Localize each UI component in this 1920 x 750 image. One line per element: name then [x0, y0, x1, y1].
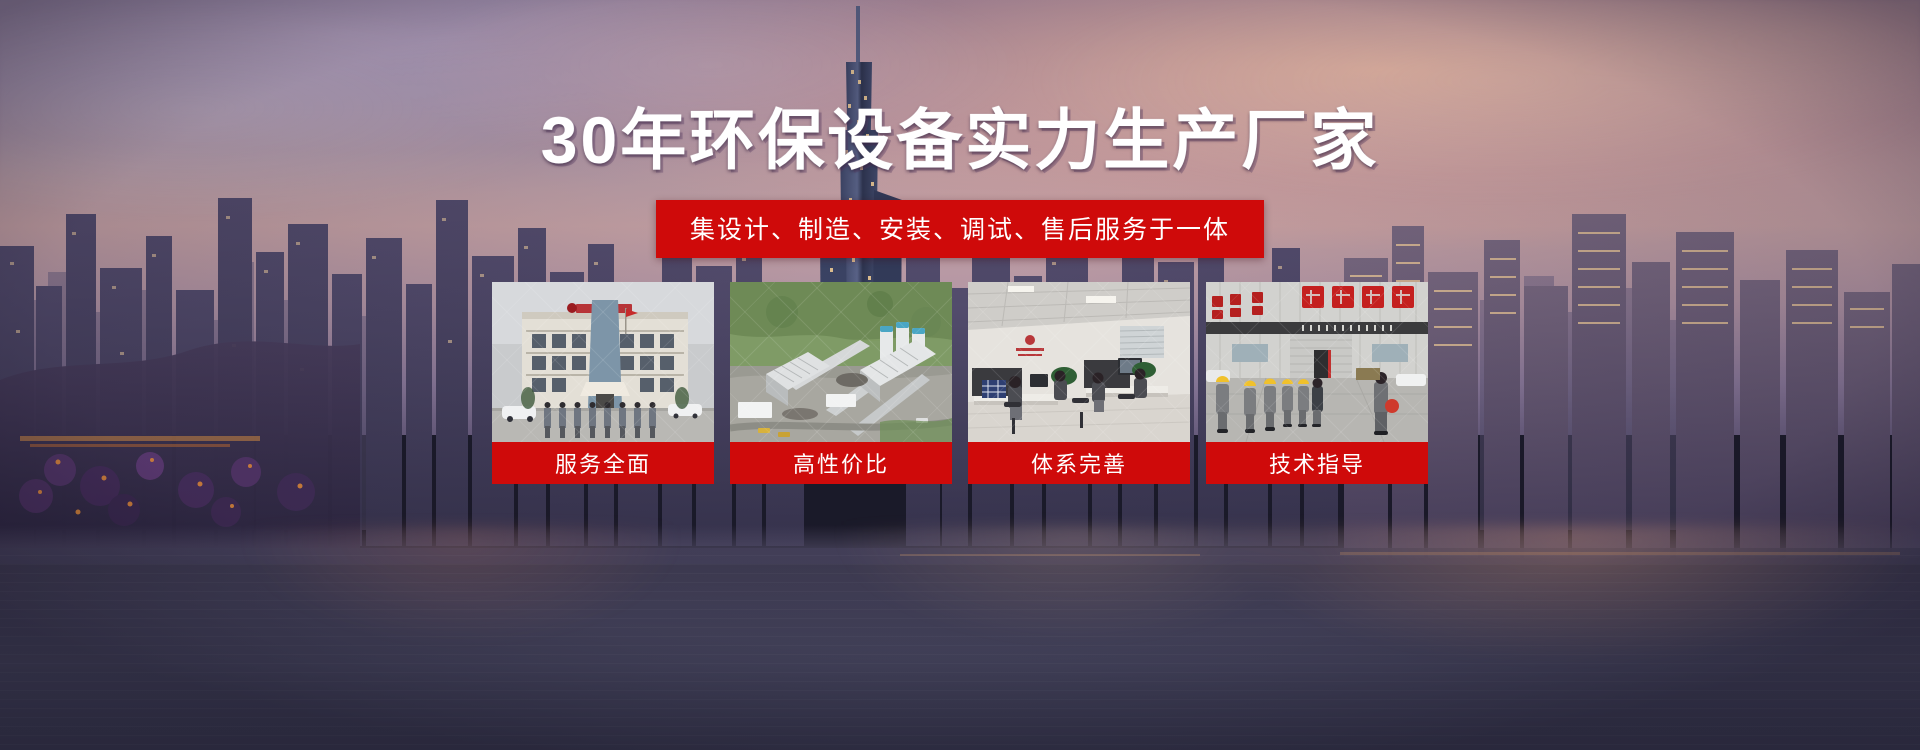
banner-content: 30年环保设备实力生产厂家 集设计、制造、安装、调试、售后服务于一体	[0, 0, 1920, 750]
banner-headline: 30年环保设备实力生产厂家	[541, 104, 1379, 178]
office-workspace-photo	[968, 282, 1190, 442]
feature-card[interactable]: 服务全面	[492, 282, 714, 484]
banner-subtitle-bar: 集设计、制造、安装、调试、售后服务于一体	[656, 200, 1264, 258]
factory-workers-training-photo	[1206, 282, 1428, 442]
company-headquarters-building-photo	[492, 282, 714, 442]
aerial-production-plant-photo	[730, 282, 952, 442]
feature-card-list: 服务全面	[492, 282, 1428, 484]
banner-subtitle-text: 集设计、制造、安装、调试、售后服务于一体	[690, 210, 1230, 246]
feature-card[interactable]: 体系完善	[968, 282, 1190, 484]
feature-card-caption: 服务全面	[492, 442, 714, 484]
feature-card-caption: 体系完善	[968, 442, 1190, 484]
hero-banner: 30年环保设备实力生产厂家 集设计、制造、安装、调试、售后服务于一体	[0, 0, 1920, 750]
feature-card[interactable]: 技术指导	[1206, 282, 1428, 484]
feature-card-caption: 技术指导	[1206, 442, 1428, 484]
feature-card[interactable]: 高性价比	[730, 282, 952, 484]
feature-card-caption: 高性价比	[730, 442, 952, 484]
